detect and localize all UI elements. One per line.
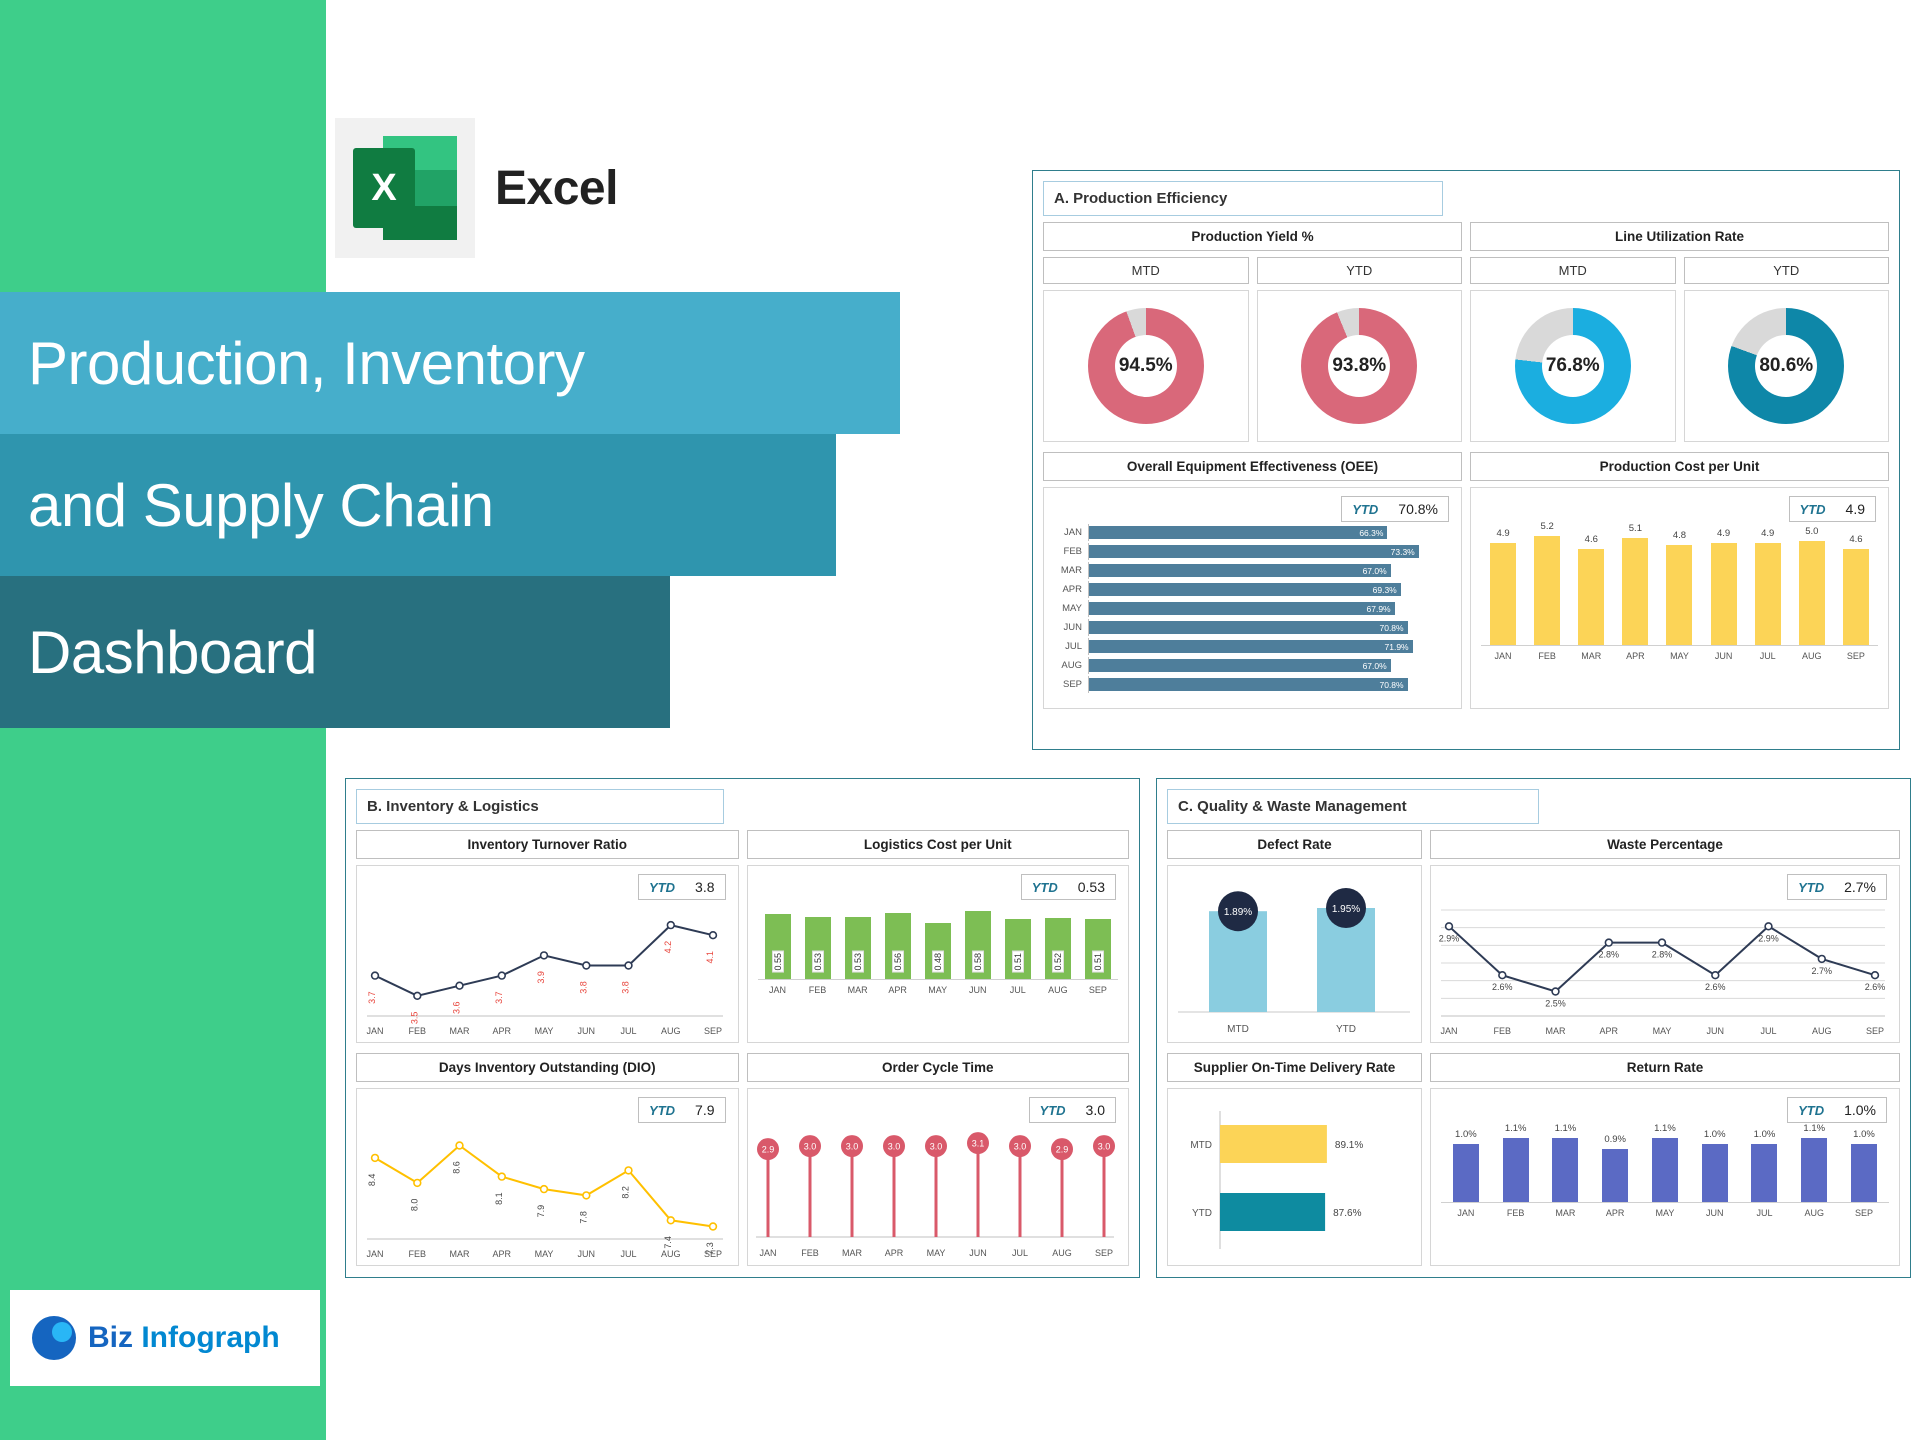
oee-bar-fill: 67.9%: [1089, 602, 1395, 615]
bar-value-label: 4.9: [1496, 528, 1509, 539]
bar-column: 0.58: [965, 911, 991, 979]
bar-column: 1.0%: [1702, 1144, 1728, 1202]
bar-axis-label: FEB: [1503, 1208, 1529, 1218]
lollipop-value-label: 3.0: [887, 1142, 900, 1152]
bar-column: 1.0%: [1453, 1144, 1479, 1202]
line-data-point: [498, 1173, 505, 1180]
oee-bar-row: JUN 70.8%: [1050, 619, 1449, 636]
supplier-axis-label: MTD: [1190, 1140, 1212, 1151]
line-data-point: [1499, 972, 1506, 979]
kpi-title-logistics-cost: Logistics Cost per Unit: [747, 830, 1130, 859]
line-data-point: [667, 922, 674, 929]
line-axis-label: JUN: [1707, 1026, 1725, 1036]
bar-x-axis: JANFEBMARAPRMAYJUNJULAUGSEP: [758, 980, 1119, 995]
bar-value-label: 0.51: [1092, 951, 1104, 973]
line-value-label: 2.5%: [1545, 999, 1566, 1009]
donut-line-utilization-mtd: 76.8%: [1515, 308, 1631, 424]
line-value-label: 4.1: [705, 951, 715, 964]
line-value-label: 8.2: [621, 1186, 631, 1199]
line-axis-label: FEB: [409, 1249, 427, 1259]
oee-bar-label: MAR: [1050, 565, 1088, 576]
oee-bar-track: 73.3%: [1088, 543, 1449, 560]
lollipop-value-label: 2.9: [761, 1145, 774, 1155]
line-value-label: 2.8%: [1599, 950, 1620, 960]
bar-axis-label: MAY: [1666, 651, 1692, 661]
bar-x-axis: JANFEBMARAPRMAYJUNJULAUGSEP: [1481, 646, 1878, 661]
bar-axis-label: MAR: [1552, 1208, 1578, 1218]
bar-axis-label: MAY: [1652, 1208, 1678, 1218]
donut-value-line-utilization-mtd: 76.8%: [1515, 308, 1631, 424]
ytd-label-inventory-turnover: YTD: [649, 880, 675, 895]
bar-column: 4.8: [1666, 545, 1692, 645]
line-value-label: 3.8: [621, 981, 631, 994]
line-value-label: 8.1: [494, 1192, 504, 1205]
ytd-chip-dio: YTD 7.9: [638, 1097, 725, 1123]
line-data-point: [1872, 972, 1879, 979]
bar-axis-label: JAN: [765, 985, 791, 995]
line-axis-label: JAN: [366, 1249, 383, 1259]
line-axis-label: JUL: [1760, 1026, 1776, 1036]
line-value-label: 2.7%: [1812, 966, 1833, 976]
line-value-label: 2.6%: [1492, 982, 1513, 992]
kpi-title-order-cycle-time: Order Cycle Time: [747, 1053, 1130, 1082]
biz-logo-text-2: Infograph: [141, 1321, 279, 1354]
bar-value-label: 4.8: [1673, 530, 1686, 541]
line-axis-label: JUN: [578, 1249, 596, 1259]
bar-value-label: 0.53: [852, 951, 864, 973]
bar-axis-label: MAY: [925, 985, 951, 995]
oee-bar-track: 67.9%: [1088, 600, 1449, 617]
donut-production-yield-mtd: 94.5%: [1088, 308, 1204, 424]
bar-column: 0.51: [1085, 919, 1111, 979]
kpi-title-defect-rate: Defect Rate: [1167, 830, 1422, 859]
ytd-chip-waste: YTD 2.7%: [1787, 874, 1887, 900]
supplier-value-label: 87.6%: [1333, 1208, 1361, 1219]
bar-value-label: 0.9%: [1604, 1134, 1626, 1145]
line-axis-label: AUG: [661, 1249, 681, 1259]
bar-column: 1.0%: [1851, 1144, 1877, 1202]
defect-rate-group: 1.89% MTD 1.95% YTD: [1168, 866, 1421, 1042]
line-axis-label: JAN: [1440, 1026, 1457, 1036]
kpi-title-line-utilization: Line Utilization Rate: [1470, 222, 1889, 251]
oee-bar-track: 71.9%: [1088, 638, 1449, 655]
bar-axis-label: AUG: [1799, 651, 1825, 661]
chart-defect-rate: 1.89% MTD 1.95% YTD: [1167, 865, 1422, 1043]
bar-value-label: 1.0%: [1853, 1129, 1875, 1140]
panel-production-efficiency: A. Production Efficiency Production Yiel…: [1032, 170, 1900, 750]
bar-value-label: 0.52: [1052, 951, 1064, 973]
bar-column: 0.53: [805, 917, 831, 979]
oee-bar-row: JUL 71.9%: [1050, 638, 1449, 655]
toggle-line-utilization-ytd[interactable]: YTD: [1684, 257, 1890, 284]
oee-bar-fill: 73.3%: [1089, 545, 1419, 558]
bar-column: 0.52: [1045, 918, 1071, 979]
line-axis-label: JUL: [620, 1249, 636, 1259]
oee-bar-fill: 67.0%: [1089, 659, 1391, 672]
defect-axis-label: MTD: [1227, 1024, 1249, 1035]
section-label-b: B. Inventory & Logistics: [356, 789, 724, 824]
bar-value-label: 4.6: [1585, 534, 1598, 545]
oee-bar-label: MAY: [1050, 603, 1088, 614]
chart-supplier-on-time-delivery: MTD 89.1% YTD 87.6%: [1167, 1088, 1422, 1266]
bar-plot-area: 0.550.530.530.560.480.580.510.520.51: [758, 906, 1119, 980]
lollipop-value-label: 3.0: [929, 1142, 942, 1152]
bar-value-label: 5.1: [1629, 523, 1642, 534]
line-value-label: 2.8%: [1652, 950, 1673, 960]
line-value-label: 7.8: [578, 1211, 588, 1224]
line-data-point: [625, 1167, 632, 1174]
chart-return-rate: YTD 1.0% 1.0%1.1%1.1%0.9%1.1%1.0%1.0%1.1…: [1430, 1088, 1900, 1266]
lollipop-value-label: 3.1: [971, 1139, 984, 1149]
excel-logo: X Excel: [335, 118, 618, 258]
oee-bar-label: AUG: [1050, 660, 1088, 671]
oee-bar-fill: 67.0%: [1089, 564, 1391, 577]
bar-value-label: 1.0%: [1754, 1129, 1776, 1140]
toggle-production-yield-ytd[interactable]: YTD: [1257, 257, 1463, 284]
lollipop-value-label: 3.0: [803, 1142, 816, 1152]
bar-column: 4.9: [1490, 543, 1516, 645]
oee-bar-fill: 71.9%: [1089, 640, 1413, 653]
line-axis-label: SEP: [1866, 1026, 1884, 1036]
line-series-path: [375, 925, 713, 996]
line-data-point: [583, 962, 590, 969]
bar-axis-label: MAR: [845, 985, 871, 995]
bar-column: 4.6: [1578, 549, 1604, 645]
oee-bar-label: FEB: [1050, 546, 1088, 557]
biz-logo-icon: [32, 1316, 76, 1360]
lollipop-axis-label: APR: [884, 1248, 903, 1258]
ytd-label-logistics-cost: YTD: [1032, 880, 1058, 895]
line-value-label: 8.6: [452, 1161, 462, 1174]
bar-axis-label: JUL: [1755, 651, 1781, 661]
defect-axis-label: YTD: [1336, 1024, 1356, 1035]
bar-axis-label: JUL: [1751, 1208, 1777, 1218]
bar-value-label: 1.1%: [1803, 1123, 1825, 1134]
supplier-delivery-svg: MTD 89.1% YTD 87.6%: [1168, 1089, 1420, 1265]
lollipop-axis-label: MAY: [926, 1248, 945, 1258]
panel-quality-waste: C. Quality & Waste Management Defect Rat…: [1156, 778, 1911, 1278]
excel-label: Excel: [495, 161, 618, 216]
line-data-point: [456, 1142, 463, 1149]
line-data-point: [456, 982, 463, 989]
bar-value-label: 1.1%: [1555, 1123, 1577, 1134]
defect-value-label: 1.95%: [1332, 904, 1360, 915]
line-axis-label: MAR: [450, 1249, 471, 1259]
bar-column: 5.1: [1622, 538, 1648, 645]
ytd-value-waste: 2.7%: [1844, 879, 1876, 895]
ytd-label-production-cost: YTD: [1800, 502, 1826, 517]
bar-column: 5.0: [1799, 541, 1825, 645]
line-value-label: 8.4: [367, 1174, 377, 1187]
lollipop-value-label: 3.0: [1097, 1142, 1110, 1152]
section-label-a: A. Production Efficiency: [1043, 181, 1443, 216]
bar-axis-label: FEB: [1534, 651, 1560, 661]
oee-bar-row: JAN 66.3%: [1050, 524, 1449, 541]
bar-axis-label: AUG: [1045, 985, 1071, 995]
donut-production-yield-ytd: 93.8%: [1301, 308, 1417, 424]
bar-column: 0.51: [1005, 919, 1031, 979]
donut-line-utilization-ytd: 80.6%: [1728, 308, 1844, 424]
chart-production-yield-mtd: 94.5%: [1043, 290, 1249, 442]
bar-axis-label: APR: [1622, 651, 1648, 661]
oee-bar-fill: 69.3%: [1089, 583, 1401, 596]
bar-value-label: 0.56: [892, 951, 904, 973]
bar-plot-area: 4.95.24.65.14.84.94.95.04.6: [1481, 528, 1878, 646]
line-axis-label: APR: [493, 1249, 512, 1259]
line-data-point: [1605, 939, 1612, 946]
bar-axis-label: SEP: [1085, 985, 1111, 995]
line-value-label: 2.6%: [1705, 982, 1726, 992]
line-axis-label: AUG: [1812, 1026, 1832, 1036]
kpi-title-return-rate: Return Rate: [1430, 1053, 1900, 1082]
oee-bar-track: 67.0%: [1088, 657, 1449, 674]
line-data-point: [1818, 956, 1825, 963]
chart-waste-percentage: YTD 2.7% 2.9%2.6%2.5%2.8%2.8%2.6%2.9%2.7…: [1430, 865, 1900, 1043]
bar-axis-label: AUG: [1801, 1208, 1827, 1218]
line-value-label: 2.9%: [1439, 933, 1460, 943]
bar-value-label: 0.55: [772, 951, 784, 973]
bar-column: 0.55: [765, 914, 791, 979]
ytd-value-oee: 70.8%: [1398, 501, 1438, 517]
line-value-label: 7.9: [536, 1205, 546, 1218]
bar-axis-label: SEP: [1843, 651, 1869, 661]
oee-bar-label: JAN: [1050, 527, 1088, 538]
line-value-label: 2.9%: [1758, 933, 1779, 943]
line-axis-label: AUG: [661, 1026, 681, 1036]
oee-bar-fill: 70.8%: [1089, 621, 1408, 634]
bar-column: 0.48: [925, 923, 951, 980]
dashboard-title-line-1: Production, Inventory: [0, 292, 900, 434]
excel-icon: X: [335, 118, 475, 258]
oee-bar-row: AUG 67.0%: [1050, 657, 1449, 674]
oee-bar-row: APR 69.3%: [1050, 581, 1449, 598]
lollipop-axis-label: JUL: [1011, 1248, 1027, 1258]
kpi-title-inventory-turnover: Inventory Turnover Ratio: [356, 830, 739, 859]
line-axis-label: JUN: [578, 1026, 596, 1036]
kpi-title-dio: Days Inventory Outstanding (DIO): [356, 1053, 739, 1082]
kpi-title-supplier-delivery: Supplier On-Time Delivery Rate: [1167, 1053, 1422, 1082]
line-value-label: 7.4: [663, 1236, 673, 1249]
chart-line-utilization-ytd: 80.6%: [1684, 290, 1890, 442]
line-data-point: [710, 1223, 717, 1230]
line-value-label: 3.8: [578, 981, 588, 994]
oee-bar-label: APR: [1050, 584, 1088, 595]
line-axis-label: MAY: [535, 1026, 554, 1036]
lollipop-value-label: 3.0: [845, 1142, 858, 1152]
line-axis-label: MAY: [535, 1249, 554, 1259]
supplier-value-label: 89.1%: [1335, 1140, 1363, 1151]
bar-value-label: 0.58: [972, 951, 984, 973]
bar-column: 5.2: [1534, 536, 1560, 645]
kpi-title-production-cost: Production Cost per Unit: [1470, 452, 1889, 481]
bar-column: 1.1%: [1503, 1138, 1529, 1202]
ytd-chip-inventory-turnover: YTD 3.8: [638, 874, 725, 900]
donut-value-line-utilization-ytd: 80.6%: [1728, 308, 1844, 424]
oee-bar-label: JUL: [1050, 641, 1088, 652]
supplier-delivery-group: MTD 89.1% YTD 87.6%: [1168, 1089, 1421, 1265]
oee-bar-fill: 66.3%: [1089, 526, 1387, 539]
bar-value-label: 0.51: [1012, 951, 1024, 973]
lollipop-value-label: 2.9: [1055, 1145, 1068, 1155]
oee-bar-row: MAR 67.0%: [1050, 562, 1449, 579]
bar-x-axis: JANFEBMARAPRMAYJUNJULAUGSEP: [1441, 1203, 1889, 1218]
oee-bar-track: 69.3%: [1088, 581, 1449, 598]
line-data-point: [583, 1192, 590, 1199]
bar-column: 1.0%: [1751, 1144, 1777, 1202]
line-value-label: 3.9: [536, 971, 546, 984]
line-value-label: 3.5: [409, 1012, 419, 1025]
ytd-label-return-rate: YTD: [1798, 1103, 1824, 1118]
biz-infograph-logo: Biz Infograph: [10, 1290, 320, 1386]
lollipop-axis-label: SEP: [1094, 1248, 1112, 1258]
kpi-title-waste-percentage: Waste Percentage: [1430, 830, 1900, 859]
line-data-point: [541, 1186, 548, 1193]
oee-bar-track: 70.8%: [1088, 619, 1449, 636]
supplier-bar: [1220, 1125, 1327, 1163]
bar-value-label: 1.0%: [1704, 1129, 1726, 1140]
oee-bar-label: JUN: [1050, 622, 1088, 633]
defect-value-label: 1.89%: [1224, 907, 1252, 918]
line-value-label: 3.6: [452, 1001, 462, 1014]
chart-inventory-turnover-ratio: YTD 3.8 3.73.53.63.73.93.83.84.24.1JANFE…: [356, 865, 739, 1043]
line-axis-label: JUL: [620, 1026, 636, 1036]
bar-value-label: 0.53: [812, 951, 824, 973]
bar-axis-label: JUL: [1005, 985, 1031, 995]
bar-column: 1.1%: [1801, 1138, 1827, 1202]
bar-axis-label: JAN: [1453, 1208, 1479, 1218]
bar-axis-label: MAR: [1578, 651, 1604, 661]
bar-value-label: 4.6: [1849, 534, 1862, 545]
line-axis-label: MAY: [1653, 1026, 1672, 1036]
line-data-point: [625, 962, 632, 969]
bar-axis-label: FEB: [805, 985, 831, 995]
bar-value-label: 5.2: [1541, 521, 1554, 532]
line-data-point: [667, 1217, 674, 1224]
ytd-label-dio: YTD: [649, 1103, 675, 1118]
line-axis-label: MAR: [450, 1026, 471, 1036]
oee-bar-row: MAY 67.9%: [1050, 600, 1449, 617]
supplier-bar: [1220, 1193, 1325, 1231]
oee-bar-fill: 70.8%: [1089, 678, 1408, 691]
oee-bar-track: 70.8%: [1088, 676, 1449, 693]
ytd-chip-oee: YTD 70.8%: [1341, 496, 1449, 522]
ytd-label-order-cycle-time: YTD: [1040, 1103, 1066, 1118]
line-axis-label: SEP: [704, 1249, 722, 1259]
bar-value-label: 1.0%: [1455, 1129, 1477, 1140]
line-axis-label: APR: [1600, 1026, 1619, 1036]
donut-value-production-yield-mtd: 94.5%: [1088, 308, 1204, 424]
line-data-point: [1765, 923, 1772, 930]
donut-value-production-yield-ytd: 93.8%: [1301, 308, 1417, 424]
bar-value-label: 1.1%: [1654, 1123, 1676, 1134]
lollipop-value-label: 3.0: [1013, 1142, 1026, 1152]
lollipop-axis-label: JUN: [969, 1248, 987, 1258]
bar-value-label: 1.1%: [1505, 1123, 1527, 1134]
line-value-label: 4.2: [663, 941, 673, 954]
line-data-point: [1552, 988, 1559, 995]
line-axis-label: FEB: [1494, 1026, 1512, 1036]
bar-axis-label: JUN: [1702, 1208, 1728, 1218]
defect-rate-svg: 1.89% MTD 1.95% YTD: [1168, 866, 1420, 1042]
ytd-chip-order-cycle-time: YTD 3.0: [1029, 1097, 1116, 1123]
panel-inventory-logistics: B. Inventory & Logistics Inventory Turno…: [345, 778, 1140, 1278]
line-axis-label: MAR: [1546, 1026, 1567, 1036]
bar-column: 4.9: [1755, 543, 1781, 645]
bar-axis-label: JUN: [965, 985, 991, 995]
line-data-point: [414, 992, 421, 999]
ytd-chip-logistics-cost: YTD 0.53: [1021, 874, 1116, 900]
toggle-production-yield-mtd[interactable]: MTD: [1043, 257, 1249, 284]
lollipop-axis-label: FEB: [801, 1248, 819, 1258]
section-label-c: C. Quality & Waste Management: [1167, 789, 1539, 824]
line-data-point: [1446, 923, 1453, 930]
ytd-value-production-cost: 4.9: [1846, 501, 1865, 517]
line-data-point: [498, 972, 505, 979]
chart-line-utilization-mtd: 76.8%: [1470, 290, 1676, 442]
dashboard-title-line-2: and Supply Chain: [0, 434, 836, 576]
bar-value-label: 5.0: [1805, 526, 1818, 537]
lollipop-axis-label: MAR: [842, 1248, 863, 1258]
lollipop-axis-label: JAN: [759, 1248, 776, 1258]
chart-logistics-cost-per-unit: YTD 0.53 0.550.530.530.560.480.580.510.5…: [747, 865, 1130, 1043]
line-axis-label: JAN: [366, 1026, 383, 1036]
line-data-point: [541, 952, 548, 959]
ytd-chip-production-cost: YTD 4.9: [1789, 496, 1876, 522]
bar-column: 1.1%: [1552, 1138, 1578, 1202]
bar-axis-label: SEP: [1851, 1208, 1877, 1218]
ytd-value-logistics-cost: 0.53: [1078, 879, 1105, 895]
kpi-title-production-yield: Production Yield %: [1043, 222, 1462, 251]
bar-axis-label: JUN: [1711, 651, 1737, 661]
toggle-line-utilization-mtd[interactable]: MTD: [1470, 257, 1676, 284]
excel-x-glyph: X: [353, 148, 415, 228]
bar-axis-label: APR: [885, 985, 911, 995]
line-data-point: [1659, 939, 1666, 946]
line-value-label: 8.0: [409, 1199, 419, 1212]
line-value-label: 3.7: [494, 991, 504, 1004]
oee-bar-row: FEB 73.3%: [1050, 543, 1449, 560]
bar-column: 4.6: [1843, 549, 1869, 645]
chart-days-inventory-outstanding: YTD 7.9 8.48.08.68.17.97.88.27.47.3JANFE…: [356, 1088, 739, 1266]
biz-logo-text: Biz Infograph: [88, 1321, 280, 1355]
line-axis-label: APR: [493, 1026, 512, 1036]
biz-logo-text-1: Biz: [88, 1321, 133, 1354]
bar-column: 1.1%: [1652, 1138, 1678, 1202]
line-data-point: [372, 972, 379, 979]
bar-column: 4.9: [1711, 543, 1737, 645]
chart-oee: YTD 70.8% JAN 66.3% FEB 73.3% MAR 67.0% …: [1043, 487, 1462, 709]
bar-axis-label: APR: [1602, 1208, 1628, 1218]
line-data-point: [710, 932, 717, 939]
kpi-title-oee: Overall Equipment Effectiveness (OEE): [1043, 452, 1462, 481]
bar-column: 0.9%: [1602, 1149, 1628, 1202]
bar-plot-area: 1.0%1.1%1.1%0.9%1.1%1.0%1.0%1.1%1.0%: [1441, 1129, 1889, 1203]
chart-production-yield-ytd: 93.8%: [1257, 290, 1463, 442]
line-data-point: [414, 1180, 421, 1187]
lollipop-axis-label: AUG: [1052, 1248, 1072, 1258]
oee-bar-row: SEP 70.8%: [1050, 676, 1449, 693]
line-data-point: [372, 1155, 379, 1162]
line-axis-label: FEB: [409, 1026, 427, 1036]
ytd-value-inventory-turnover: 3.8: [695, 879, 714, 895]
ytd-label-waste: YTD: [1798, 880, 1824, 895]
bar-value-label: 4.9: [1717, 528, 1730, 539]
line-data-point: [1712, 972, 1719, 979]
line-axis-label: SEP: [704, 1026, 722, 1036]
oee-bar-track: 67.0%: [1088, 562, 1449, 579]
chart-order-cycle-time: YTD 3.0 2.9 JAN 3.0 FEB 3.0 MAR 3.0 APR …: [747, 1088, 1130, 1266]
ytd-value-dio: 7.9: [695, 1102, 714, 1118]
